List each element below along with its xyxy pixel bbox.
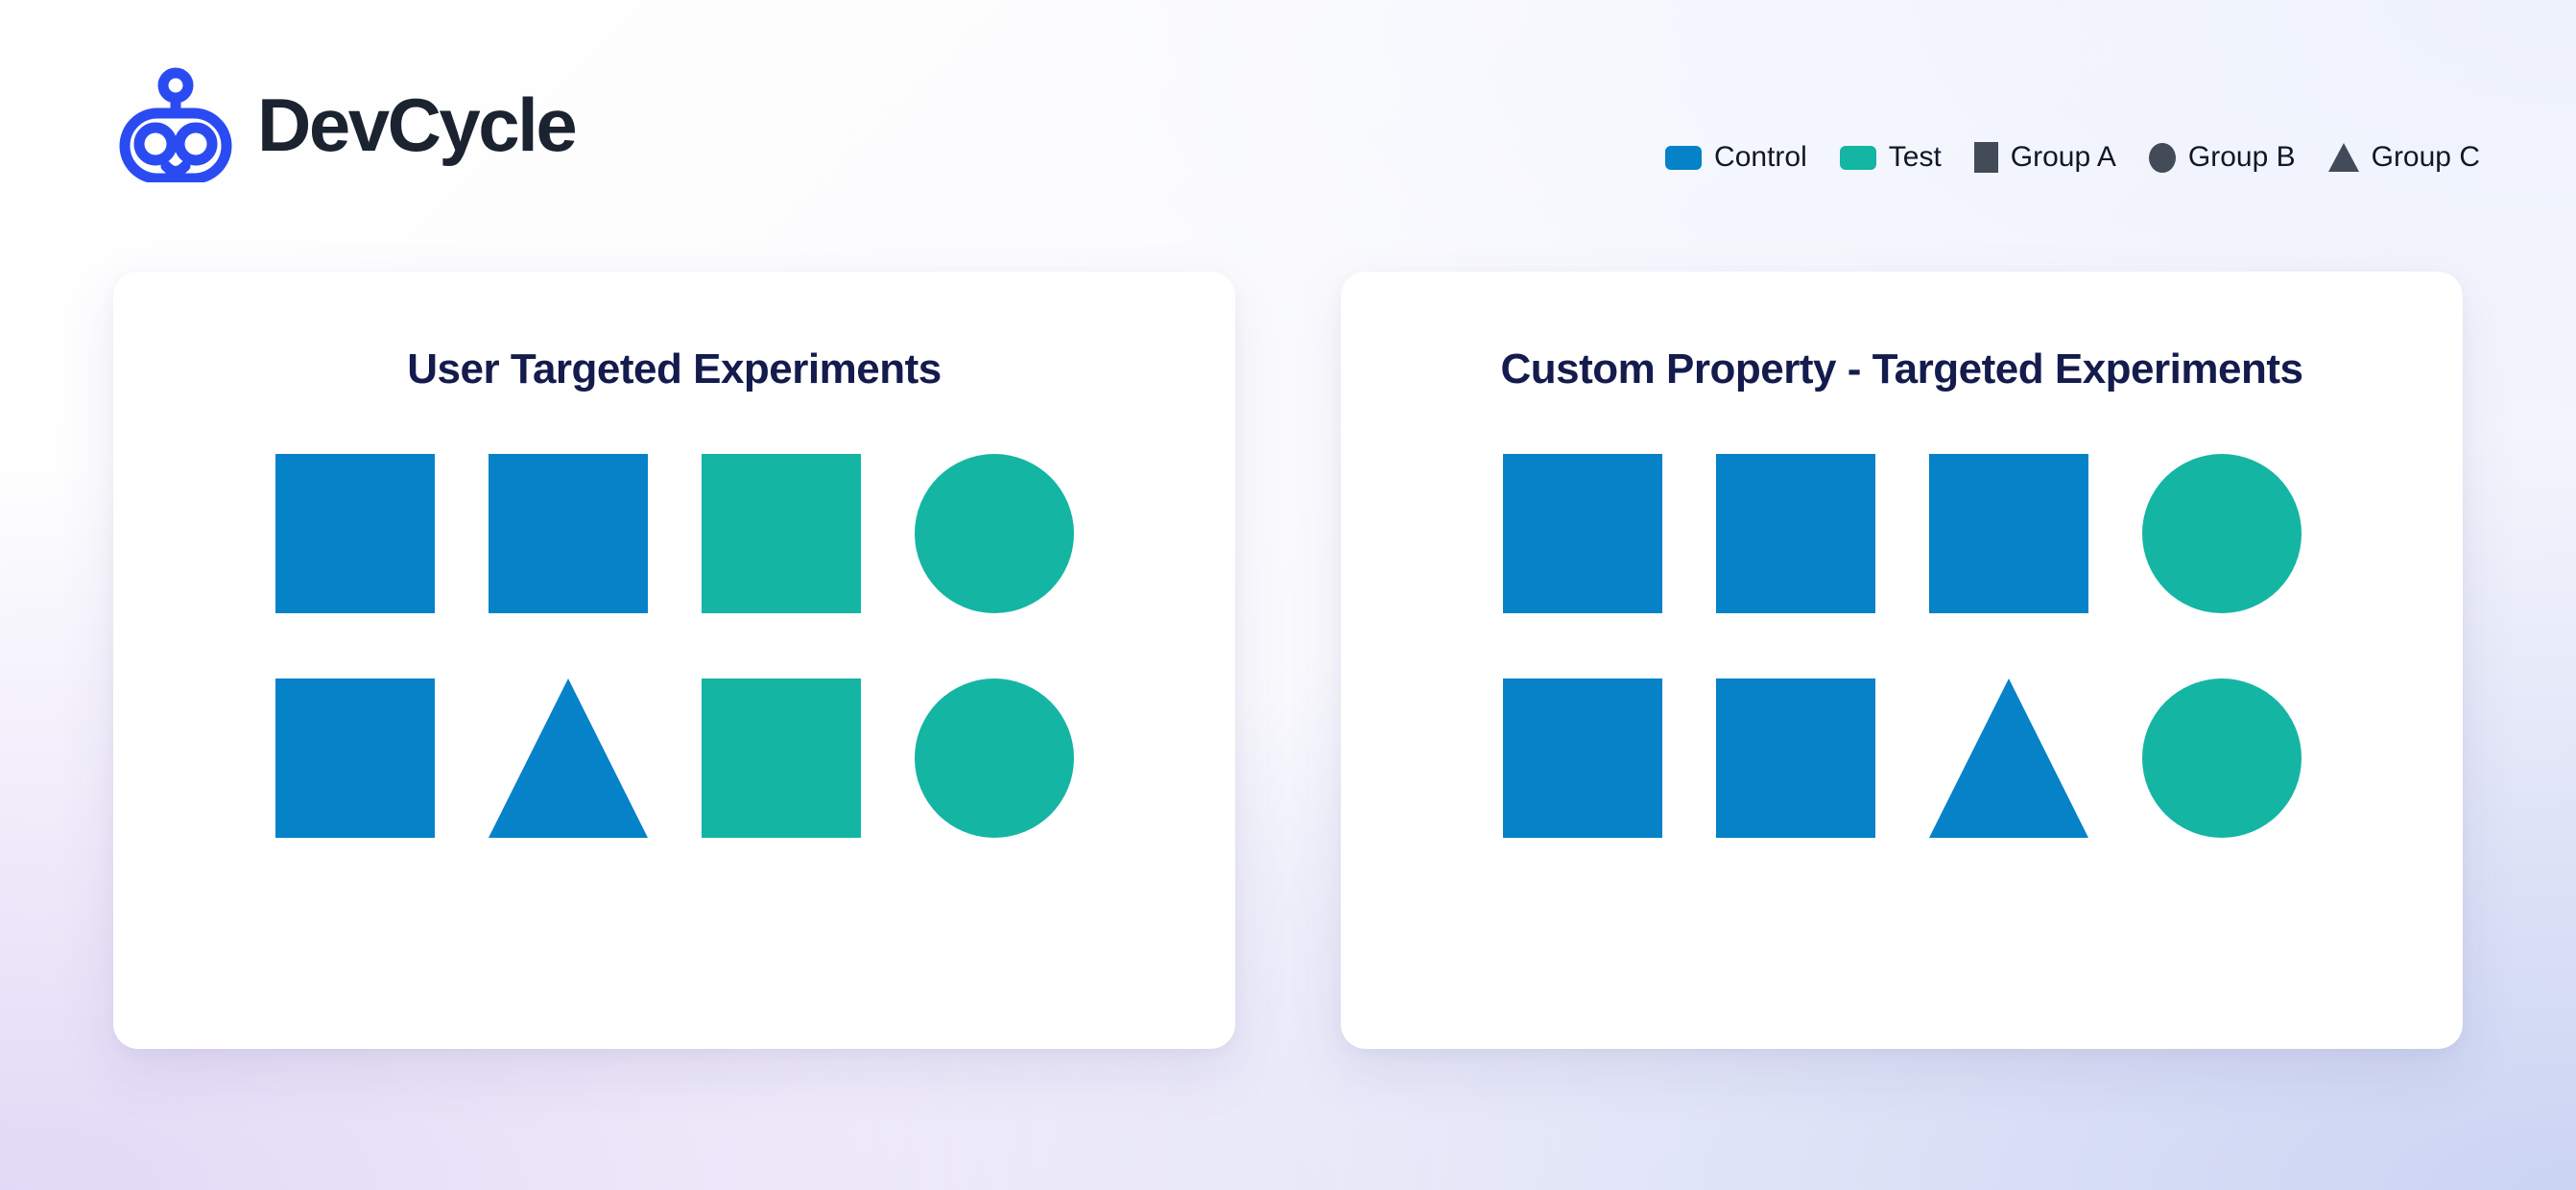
legend: Control Test Group A Group B Group C bbox=[1665, 142, 2480, 173]
square-shape bbox=[1716, 454, 1875, 613]
legend-label-group-b: Group B bbox=[2188, 143, 2296, 172]
square-shape bbox=[275, 678, 435, 838]
shape-cell bbox=[2142, 454, 2302, 613]
shape-cell bbox=[1716, 678, 1875, 838]
square-marker-icon bbox=[1974, 142, 1998, 173]
legend-item-group-c[interactable]: Group C bbox=[2328, 143, 2480, 172]
shape-cell bbox=[489, 454, 648, 613]
legend-item-group-b[interactable]: Group B bbox=[2149, 143, 2296, 173]
brand-logo[interactable]: DevCycle bbox=[119, 67, 575, 182]
legend-item-group-a[interactable]: Group A bbox=[1974, 142, 2116, 173]
square-shape bbox=[489, 454, 648, 613]
legend-label-test: Test bbox=[1889, 143, 1942, 172]
shape-cell bbox=[1929, 454, 2088, 613]
square-shape bbox=[1716, 678, 1875, 838]
control-swatch-icon bbox=[1665, 146, 1702, 170]
shape-grid bbox=[275, 454, 1074, 838]
circle-shape bbox=[915, 678, 1074, 838]
square-shape bbox=[702, 454, 861, 613]
shape-grid bbox=[1503, 454, 2302, 838]
legend-label-group-c: Group C bbox=[2372, 143, 2480, 172]
test-swatch-icon bbox=[1840, 146, 1876, 170]
page-header: DevCycle Control Test Group A Group B Gr… bbox=[0, 0, 2576, 240]
legend-label-control: Control bbox=[1714, 143, 1807, 172]
card-title: User Targeted Experiments bbox=[407, 346, 941, 393]
shape-cell bbox=[915, 678, 1074, 838]
square-shape bbox=[1929, 454, 2088, 613]
triangle-marker-icon bbox=[2328, 143, 2359, 172]
legend-item-test[interactable]: Test bbox=[1840, 143, 1942, 172]
circle-shape bbox=[2142, 454, 2302, 613]
circle-marker-icon bbox=[2149, 143, 2176, 173]
circle-shape bbox=[915, 454, 1074, 613]
square-shape bbox=[702, 678, 861, 838]
shape-cell bbox=[1503, 454, 1662, 613]
card-user-targeted-experiments: User Targeted Experiments bbox=[113, 272, 1235, 1049]
square-shape bbox=[275, 454, 435, 613]
shape-cell bbox=[275, 678, 435, 838]
legend-item-control[interactable]: Control bbox=[1665, 143, 1807, 172]
shape-cell bbox=[702, 454, 861, 613]
shape-cell bbox=[702, 678, 861, 838]
legend-label-group-a: Group A bbox=[2011, 143, 2116, 172]
shape-cell bbox=[1503, 678, 1662, 838]
shape-cell bbox=[1929, 678, 2088, 838]
circle-shape bbox=[2142, 678, 2302, 838]
shape-cell bbox=[489, 678, 648, 838]
square-shape bbox=[1503, 678, 1662, 838]
shape-cell bbox=[915, 454, 1074, 613]
card-title: Custom Property - Targeted Experiments bbox=[1501, 346, 2303, 393]
card-container: User Targeted Experiments Custom Propert… bbox=[0, 272, 2576, 1049]
shape-cell bbox=[275, 454, 435, 613]
shape-cell bbox=[2142, 678, 2302, 838]
square-shape bbox=[1503, 454, 1662, 613]
triangle-shape bbox=[489, 678, 648, 838]
brand-wordmark: DevCycle bbox=[257, 87, 575, 162]
triangle-shape bbox=[1929, 678, 2088, 838]
shape-cell bbox=[1716, 454, 1875, 613]
robot-icon bbox=[119, 67, 232, 182]
card-custom-property-targeted-experiments: Custom Property - Targeted Experiments bbox=[1341, 272, 2463, 1049]
